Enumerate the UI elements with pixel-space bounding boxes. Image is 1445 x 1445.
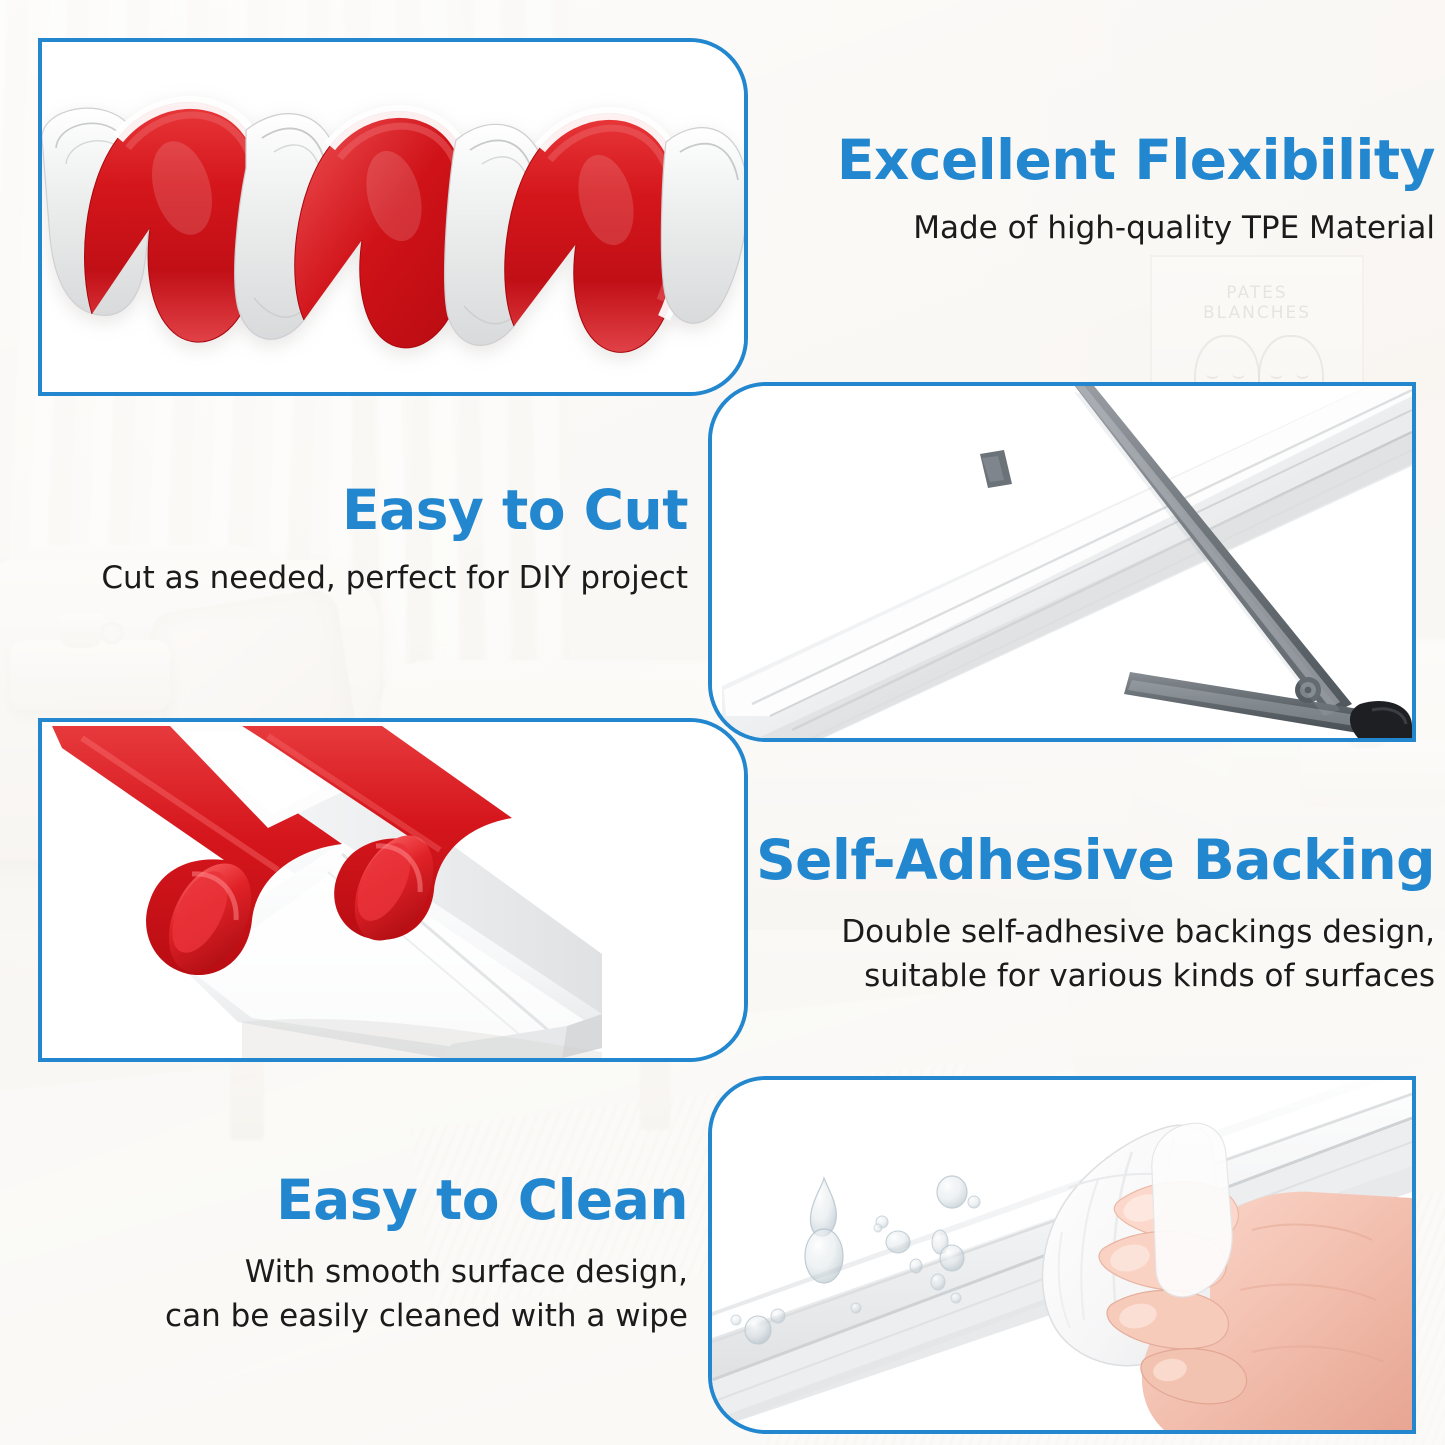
heading-cut: Easy to Cut	[16, 482, 688, 538]
scissors-cutting-photo	[712, 386, 1412, 738]
subtext-cut: Cut as needed, perfect for DIY project	[16, 558, 688, 598]
feature-image-panel-flexibility	[38, 38, 748, 396]
tissue-flap	[1152, 1123, 1232, 1297]
wiping-strip-photo	[712, 1080, 1412, 1430]
feature-text-adhesive: Self-Adhesive Backing Double self-adhesi…	[745, 832, 1435, 998]
feature-image-panel-cut	[708, 382, 1416, 742]
subtext-flexibility: Made of high-quality TPE Material	[745, 208, 1435, 248]
adhesive-backing-photo	[42, 722, 744, 1058]
subtext-clean-line1: With smooth surface design,	[16, 1250, 688, 1294]
subtext-clean-line2: can be easily cleaned with a wipe	[16, 1294, 688, 1338]
infographic-canvas: PATES BLANCHES	[0, 0, 1445, 1445]
feature-image-panel-clean	[708, 1076, 1416, 1434]
feature-text-cut: Easy to Cut Cut as needed, perfect for D…	[16, 482, 688, 598]
coiled-strip-photo	[42, 68, 744, 368]
subtext-adhesive-line1: Double self-adhesive backings design,	[745, 910, 1435, 954]
heading-clean: Easy to Clean	[16, 1172, 688, 1228]
heading-flexibility: Excellent Flexibility	[745, 132, 1435, 188]
feature-text-clean: Easy to Clean With smooth surface design…	[16, 1172, 688, 1338]
heading-adhesive: Self-Adhesive Backing	[745, 832, 1435, 888]
feature-image-panel-adhesive	[38, 718, 748, 1062]
subtext-adhesive-line2: suitable for various kinds of surfaces	[745, 954, 1435, 998]
feature-text-flexibility: Excellent Flexibility Made of high-quali…	[745, 132, 1435, 248]
